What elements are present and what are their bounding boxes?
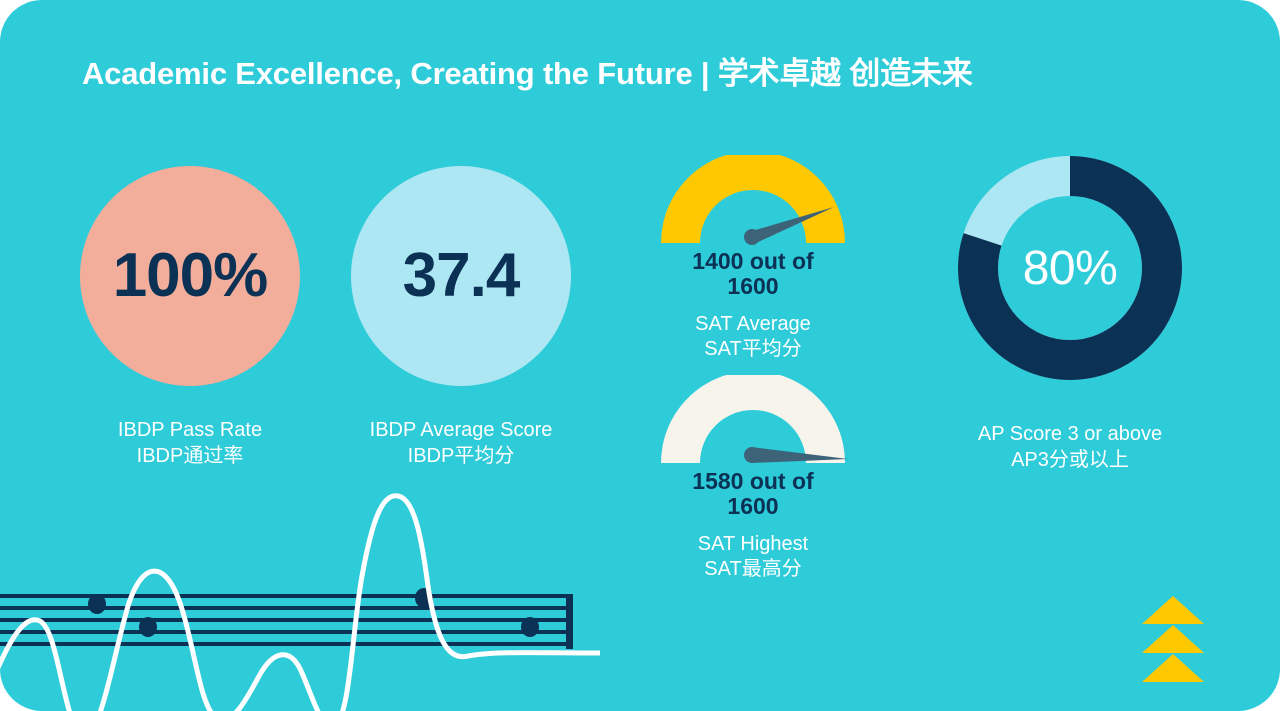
music-staff-decoration bbox=[0, 481, 600, 711]
stat-ap-score: 80% AP Score 3 or above AP3分或以上 bbox=[940, 152, 1200, 473]
stat-sat-highest: 1580 out of 1600 SAT Highest SAT最高分 bbox=[648, 375, 858, 583]
ibdp-pass-rate-circle: 100% bbox=[80, 166, 300, 386]
stat-ibdp-average-score: 37.4 IBDP Average Score IBDP平均分 bbox=[351, 166, 571, 469]
ap-score-value: 80% bbox=[954, 152, 1186, 384]
ap-score-donut-chart: 80% bbox=[954, 152, 1186, 384]
ibdp-pass-rate-value: 100% bbox=[113, 245, 268, 307]
sat-highest-value: 1580 out of 1600 bbox=[648, 469, 858, 520]
ibdp-pass-rate-caption: IBDP Pass Rate IBDP通过率 bbox=[80, 418, 300, 469]
ap-score-caption: AP Score 3 or above AP3分或以上 bbox=[940, 422, 1200, 473]
ibdp-average-score-caption: IBDP Average Score IBDP平均分 bbox=[351, 418, 571, 469]
sat-average-gauge-icon bbox=[648, 155, 858, 247]
sat-average-caption: SAT Average SAT平均分 bbox=[648, 312, 858, 363]
triangle-top-icon bbox=[1142, 596, 1204, 624]
ibdp-average-score-value: 37.4 bbox=[403, 245, 520, 307]
triangle-stack-decoration bbox=[1138, 594, 1208, 684]
ibdp-average-score-circle: 37.4 bbox=[351, 166, 571, 386]
stat-sat-average: 1400 out of 1600 SAT Average SAT平均分 bbox=[648, 155, 858, 363]
page-title: Academic Excellence, Creating the Future… bbox=[82, 48, 973, 93]
sat-average-value: 1400 out of 1600 bbox=[648, 249, 858, 300]
stat-ibdp-pass-rate: 100% IBDP Pass Rate IBDP通过率 bbox=[80, 166, 300, 469]
triangle-bottom-icon bbox=[1142, 654, 1204, 682]
infographic-poster: Academic Excellence, Creating the Future… bbox=[0, 0, 1280, 711]
sat-highest-gauge-icon bbox=[648, 375, 858, 467]
triangle-middle-icon bbox=[1142, 625, 1204, 653]
staff-lines bbox=[0, 594, 573, 649]
sat-highest-caption: SAT Highest SAT最高分 bbox=[648, 532, 858, 583]
